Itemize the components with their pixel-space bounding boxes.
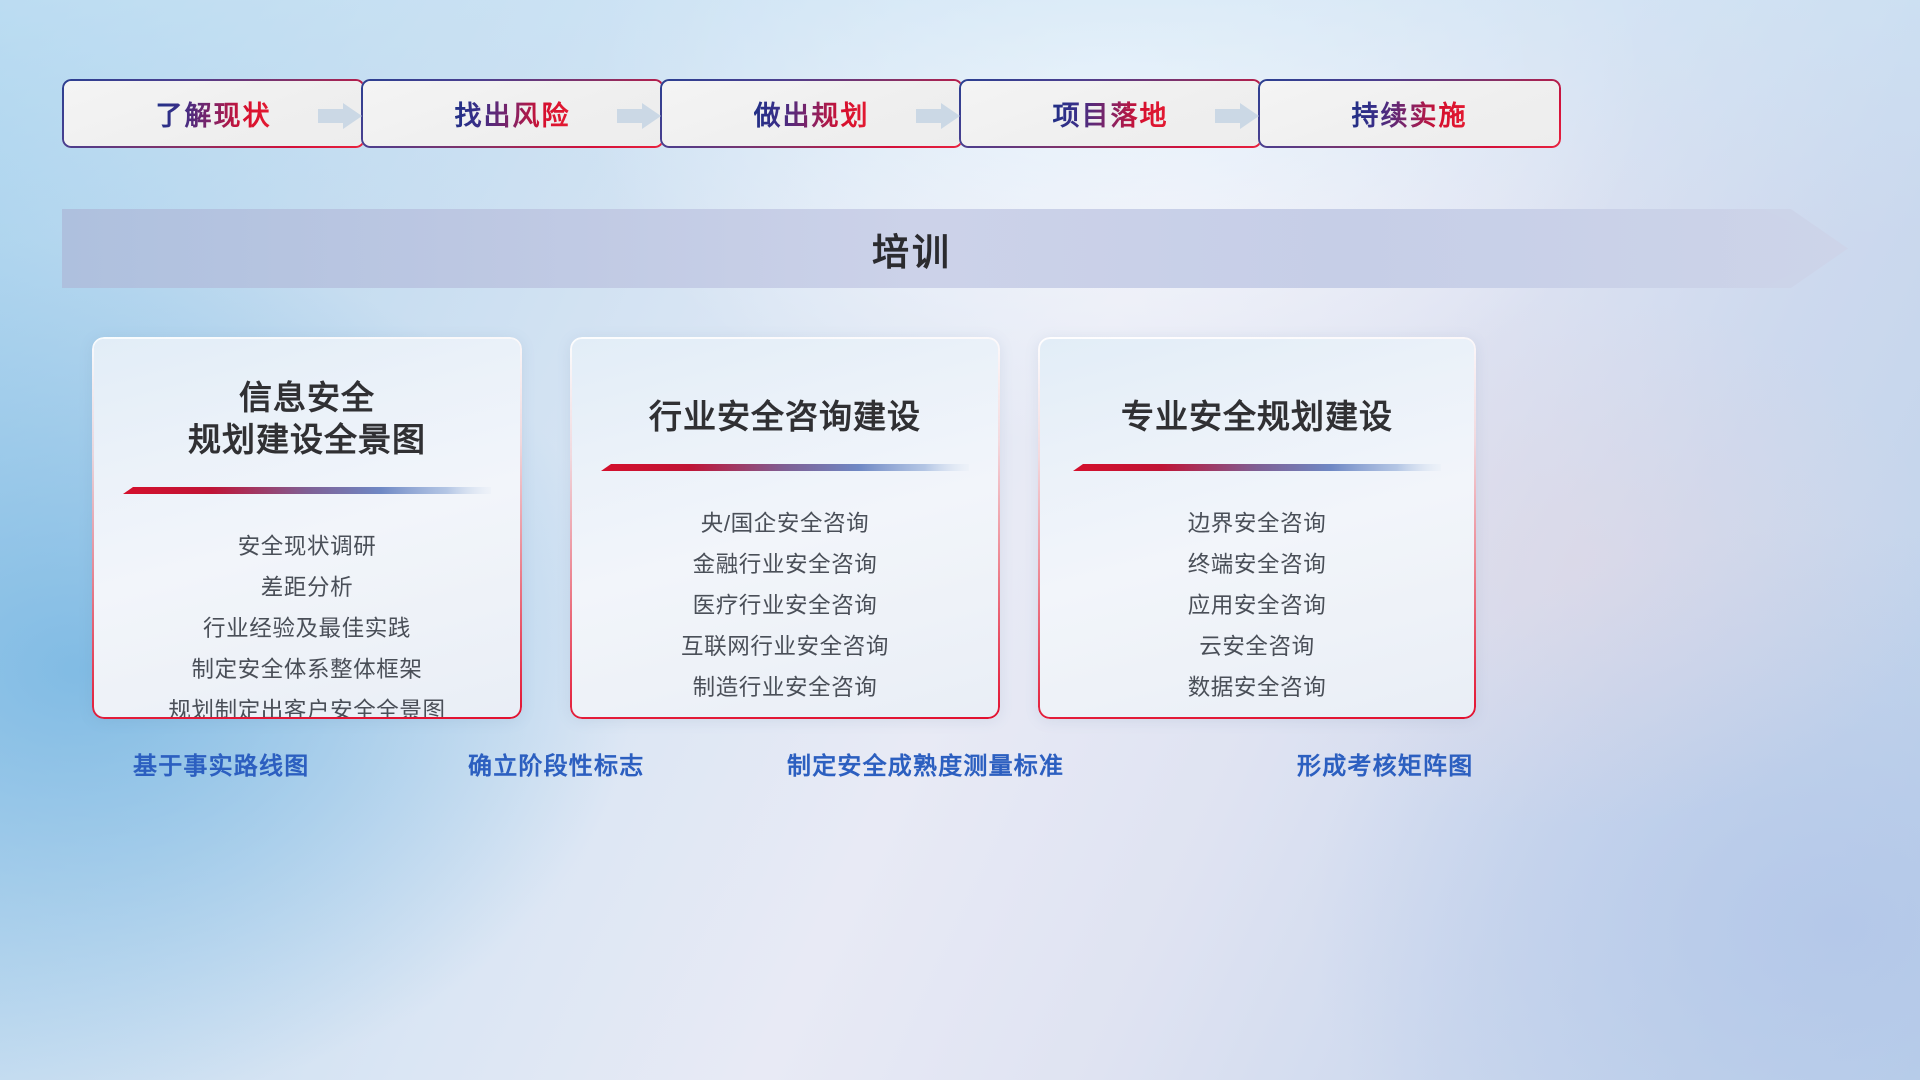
- list-item: 金融行业安全咨询: [572, 544, 998, 585]
- accent-bar: [1073, 464, 1441, 473]
- list-item: 行业经验及最佳实践: [94, 608, 520, 649]
- card-body: 信息安全规划建设全景图安全现状调研差距分析行业经验及最佳实践制定安全体系整体框架…: [94, 339, 520, 717]
- step-label: 找出风险: [455, 94, 571, 133]
- card-title-line: 行业安全咨询建设: [572, 396, 998, 438]
- card-title-line: 信息安全: [94, 377, 520, 419]
- card-body: 专业安全规划建设边界安全咨询终端安全咨询应用安全咨询云安全咨询数据安全咨询: [1040, 339, 1474, 717]
- accent-bar: [123, 487, 491, 496]
- list-item: 互联网行业安全咨询: [572, 626, 998, 667]
- step-label: 做出规划: [754, 94, 870, 133]
- caption-2: 确立阶段性标志: [468, 746, 644, 781]
- card-3[interactable]: 专业安全规划建设边界安全咨询终端安全咨询应用安全咨询云安全咨询数据安全咨询: [1038, 337, 1476, 719]
- accent-bar: [601, 464, 969, 473]
- caption-1: 基于事实路线图: [133, 746, 309, 781]
- card-title: 信息安全规划建设全景图: [94, 377, 520, 461]
- card-title: 行业安全咨询建设: [572, 396, 998, 438]
- card-title: 专业安全规划建设: [1040, 396, 1474, 438]
- caption-4: 形成考核矩阵图: [1297, 746, 1473, 781]
- list-item: 数据安全咨询: [1040, 667, 1474, 708]
- step-label: 项目落地: [1053, 94, 1169, 133]
- accent-bar-wrap: [572, 438, 998, 473]
- card-1[interactable]: 信息安全规划建设全景图安全现状调研差距分析行业经验及最佳实践制定安全体系整体框架…: [92, 337, 522, 719]
- list-item: 应用安全咨询: [1040, 585, 1474, 626]
- list-item: 安全现状调研: [94, 526, 520, 567]
- step-box-5[interactable]: 持续实施: [1258, 79, 1561, 148]
- arrow-right-icon: [1215, 103, 1259, 129]
- arrow-right-icon: [916, 103, 960, 129]
- list-item: 终端安全咨询: [1040, 544, 1474, 585]
- card-list: 边界安全咨询终端安全咨询应用安全咨询云安全咨询数据安全咨询: [1040, 503, 1474, 708]
- training-banner: 培训: [62, 209, 1848, 288]
- card-title-line: 专业安全规划建设: [1040, 396, 1474, 438]
- list-item: 边界安全咨询: [1040, 503, 1474, 544]
- list-item: 制造行业安全咨询: [572, 667, 998, 708]
- process-steps: 了解现状找出风险做出规划项目落地持续实施: [0, 0, 1920, 160]
- arrow-right-icon: [617, 103, 661, 129]
- arrow-right-icon: [318, 103, 362, 129]
- card-list: 央/国企安全咨询金融行业安全咨询医疗行业安全咨询互联网行业安全咨询制造行业安全咨…: [572, 503, 998, 708]
- step-label: 了解现状: [156, 94, 272, 133]
- card-list: 安全现状调研差距分析行业经验及最佳实践制定安全体系整体框架规划制定出客户安全全景…: [94, 526, 520, 719]
- step-label: 持续实施: [1352, 94, 1468, 133]
- list-item: 云安全咨询: [1040, 626, 1474, 667]
- accent-bar-wrap: [1040, 438, 1474, 473]
- caption-3: 制定安全成熟度测量标准: [787, 746, 1064, 781]
- card-title-line: 规划建设全景图: [94, 419, 520, 461]
- list-item: 差距分析: [94, 567, 520, 608]
- card-2[interactable]: 行业安全咨询建设央/国企安全咨询金融行业安全咨询医疗行业安全咨询互联网行业安全咨…: [570, 337, 1000, 719]
- list-item: 规划制定出客户安全全景图: [94, 690, 520, 719]
- list-item: 央/国企安全咨询: [572, 503, 998, 544]
- banner-title: 培训: [62, 209, 1762, 288]
- list-item: 医疗行业安全咨询: [572, 585, 998, 626]
- accent-bar-wrap: [94, 461, 520, 496]
- list-item: 制定安全体系整体框架: [94, 649, 520, 690]
- card-body: 行业安全咨询建设央/国企安全咨询金融行业安全咨询医疗行业安全咨询互联网行业安全咨…: [572, 339, 998, 717]
